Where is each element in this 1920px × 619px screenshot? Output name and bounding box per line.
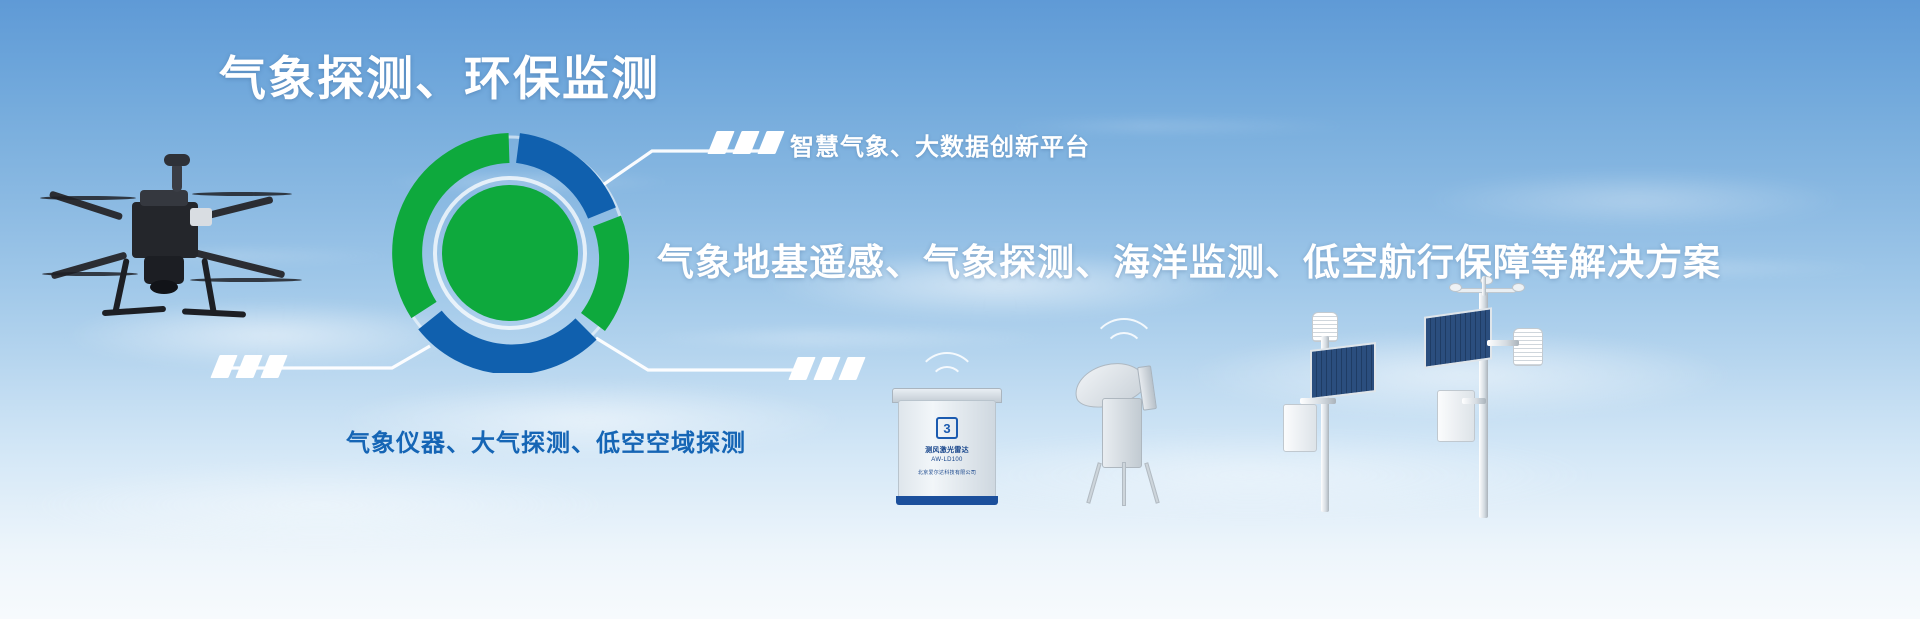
- lidar-model-name: 测风激光雷达: [899, 445, 995, 455]
- tripod-leg: [1122, 462, 1126, 506]
- label-smart-meteorology: 智慧气象、大数据创新平台: [790, 127, 1090, 162]
- slash-marks-bottom-right: [793, 357, 861, 380]
- lidar-brand-logo: 3: [936, 417, 958, 439]
- radiation-shield: [1513, 328, 1543, 366]
- blue-arc-bottom: [430, 320, 586, 359]
- label-instruments: 气象仪器、大气探测、低空空域探测: [346, 423, 746, 458]
- anemometer-cup: [1449, 283, 1462, 292]
- lidar-model-code: AW-LD100: [899, 457, 995, 463]
- anemometer-cup: [1512, 283, 1525, 292]
- cross-arm: [1487, 340, 1519, 346]
- drone-illustration: [40, 150, 310, 350]
- lidar-base: [896, 496, 998, 505]
- slash-marks-bottom-left: [215, 355, 283, 378]
- sensor-stem: [1482, 276, 1486, 296]
- donut-center-disc: [442, 185, 578, 321]
- green-arc-bottom-right: [593, 221, 614, 322]
- wind-vane: [1456, 288, 1516, 293]
- page-title: 气象探测、环保监测: [219, 50, 660, 109]
- label-solutions: 气象地基遥感、气象探测、海洋监测、低空航行保障等解决方案: [657, 232, 1721, 286]
- cross-arm: [1300, 398, 1336, 404]
- solar-panel: [1310, 342, 1376, 400]
- donut-ring-graphic: [390, 133, 630, 373]
- lidar-body: 3 测风激光雷达 AW-LD100 北京爱尔达科技有限公司: [898, 400, 996, 498]
- solar-panel: [1424, 307, 1492, 369]
- slash-marks-top: [712, 131, 780, 154]
- cross-arm: [1462, 398, 1486, 404]
- instrument-enclosure: [1283, 404, 1317, 452]
- tripod-electronics-box: [1102, 398, 1142, 468]
- lidar-company: 北京爱尔达科技有限公司: [899, 469, 995, 476]
